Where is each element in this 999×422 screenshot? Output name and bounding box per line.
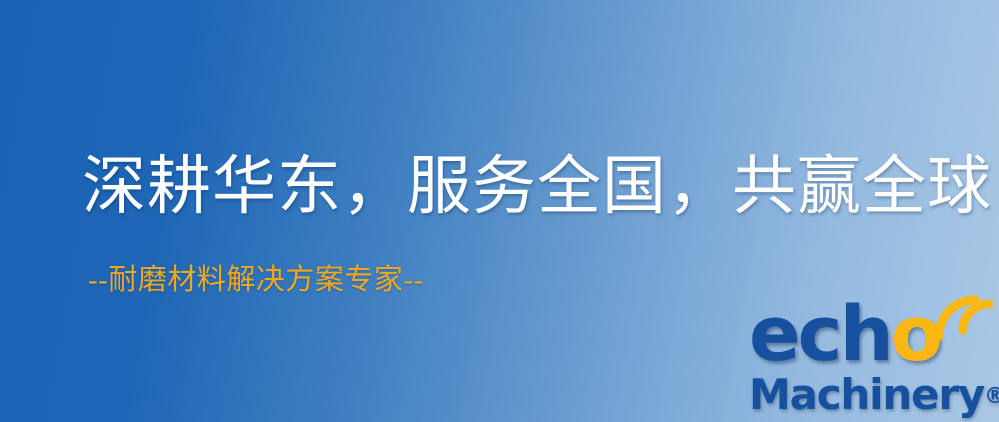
logo-wordmark-primary: ech <box>749 289 891 378</box>
logo-wordmark-accent: o <box>891 289 940 378</box>
signal-arcs-icon <box>931 292 995 356</box>
registered-trademark-icon: ® <box>984 384 999 409</box>
banner-subtitle: --耐磨材料解决方案专家-- <box>88 262 424 298</box>
company-logo[interactable]: echo Machinery® <box>745 296 999 422</box>
logo-subtext-row: Machinery® <box>749 372 999 420</box>
promo-banner: 深耕华东，服务全国，共赢全球 --耐磨材料解决方案专家-- echo Machi… <box>0 0 999 422</box>
logo-wordmark: echo <box>749 296 940 372</box>
logo-subtext: Machinery <box>749 370 984 419</box>
banner-headline: 深耕华东，服务全国，共赢全球 <box>82 148 992 226</box>
